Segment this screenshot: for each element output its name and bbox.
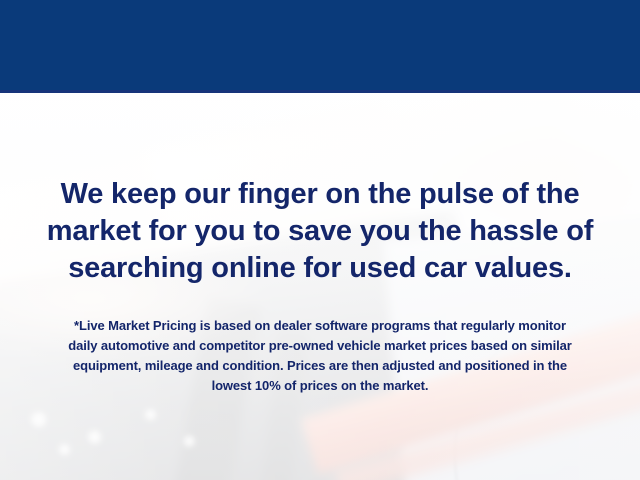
headline-line: market for you to save you the hassle of [20, 213, 620, 250]
disclaimer-line: lowest 10% of prices on the market. [22, 376, 618, 396]
disclaimer-line: equipment, mileage and condition. Prices… [22, 356, 618, 376]
header-banner [0, 0, 640, 90]
headline: We keep our finger on the pulse of the m… [20, 176, 620, 287]
disclaimer-line: daily automotive and competitor pre-owne… [22, 336, 618, 356]
headline-line: searching online for used car values. [20, 250, 620, 287]
header-banner-rule [0, 90, 640, 93]
disclaimer-line: *Live Market Pricing is based on dealer … [22, 316, 618, 336]
headline-line: We keep our finger on the pulse of the [20, 176, 620, 213]
disclaimer: *Live Market Pricing is based on dealer … [22, 316, 618, 396]
live-market-pricing-card: Live Market Pricing* We keep our finger … [0, 0, 640, 480]
